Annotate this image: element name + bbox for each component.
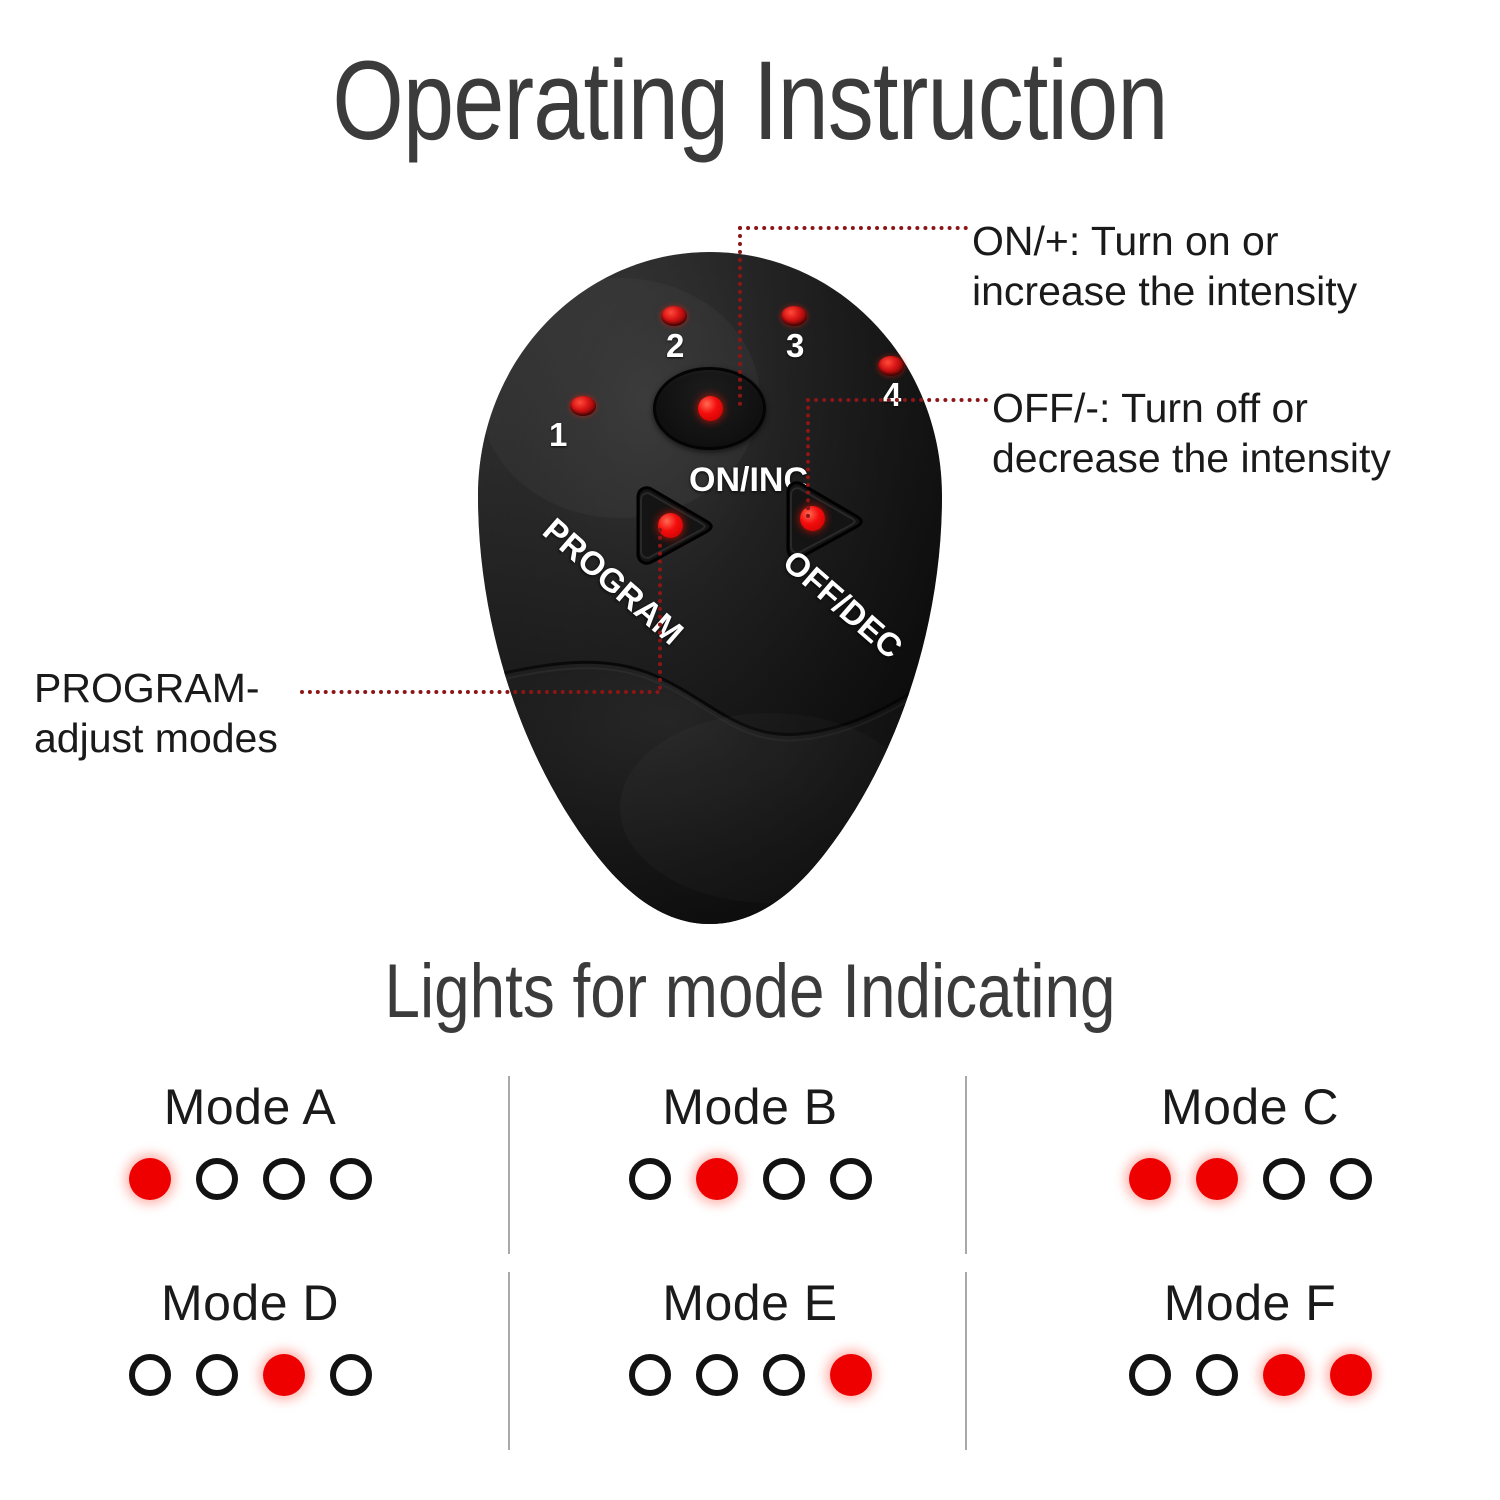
- mode-d-led-1: [129, 1354, 171, 1396]
- mode-divider-1: [508, 1076, 510, 1254]
- callout-program-label: PROGRAM- adjust modes: [34, 663, 454, 763]
- mode-b-led-2: [696, 1158, 738, 1200]
- mode-d-led-4: [330, 1354, 372, 1396]
- mode-c-led-4: [1330, 1158, 1372, 1200]
- off-dec-button-led: [800, 506, 825, 531]
- mode-f-label: Mode F: [1164, 1278, 1337, 1328]
- device-led-3: [781, 306, 807, 326]
- device-led-1-number: 1: [549, 416, 567, 454]
- mode-d-led-3: [263, 1354, 305, 1396]
- page-title: Operating Instruction: [135, 42, 1365, 160]
- mode-e-label: Mode E: [662, 1278, 837, 1328]
- device-illustration: 1 2 3 4 ON/INC PROGRAM OFF/DEC: [470, 248, 950, 928]
- device-led-2: [661, 306, 687, 326]
- mode-c-label: Mode C: [1161, 1082, 1339, 1132]
- callout-off-label: OFF/-: Turn off or decrease the intensit…: [992, 383, 1492, 483]
- mode-indicator-chart: Mode A Mode B Mode C: [0, 1072, 1500, 1472]
- mode-divider-2: [965, 1076, 967, 1254]
- section-title: Lights for mode Indicating: [120, 952, 1380, 1032]
- mode-e-led-3: [763, 1354, 805, 1396]
- mode-divider-3: [508, 1272, 510, 1450]
- mode-row-bottom: Mode D Mode E Mode F: [0, 1268, 1500, 1458]
- mode-b-led-3: [763, 1158, 805, 1200]
- device-led-1: [570, 396, 596, 416]
- mode-b-led-1: [629, 1158, 671, 1200]
- mode-cell-e: Mode E: [500, 1268, 1000, 1458]
- mode-a-led-2: [196, 1158, 238, 1200]
- mode-e-led-4: [830, 1354, 872, 1396]
- mode-cell-c: Mode C: [1000, 1072, 1500, 1262]
- leader-line-off-horizontal: [806, 398, 988, 402]
- mode-cell-a: Mode A: [0, 1072, 500, 1262]
- mode-e-led-2: [696, 1354, 738, 1396]
- mode-a-leds: [129, 1158, 372, 1200]
- on-inc-button-led: [698, 396, 723, 421]
- device-body-shape: [470, 248, 950, 928]
- leader-line-on-horizontal: [738, 226, 968, 230]
- mode-d-label: Mode D: [161, 1278, 339, 1328]
- mode-e-leds: [629, 1354, 872, 1396]
- instruction-page: Operating Instruction: [0, 0, 1500, 1500]
- mode-d-leds: [129, 1354, 372, 1396]
- mode-a-led-3: [263, 1158, 305, 1200]
- mode-f-led-2: [1196, 1354, 1238, 1396]
- mode-a-led-4: [330, 1158, 372, 1200]
- device-led-3-number: 3: [786, 327, 804, 365]
- mode-a-led-1: [129, 1158, 171, 1200]
- device-led-4-number: 4: [883, 376, 901, 414]
- mode-b-label: Mode B: [662, 1082, 837, 1132]
- mode-e-led-1: [629, 1354, 671, 1396]
- device-led-4: [878, 356, 904, 376]
- mode-f-led-3: [1263, 1354, 1305, 1396]
- mode-f-leds: [1129, 1354, 1372, 1396]
- mode-d-led-2: [196, 1354, 238, 1396]
- mode-c-led-2: [1196, 1158, 1238, 1200]
- mode-f-led-4: [1330, 1354, 1372, 1396]
- mode-cell-b: Mode B: [500, 1072, 1000, 1262]
- device-led-2-number: 2: [666, 327, 684, 365]
- mode-f-led-1: [1129, 1354, 1171, 1396]
- leader-line-program-vertical: [658, 528, 662, 690]
- mode-b-led-4: [830, 1158, 872, 1200]
- mode-cell-d: Mode D: [0, 1268, 500, 1458]
- mode-divider-4: [965, 1272, 967, 1450]
- mode-c-led-3: [1263, 1158, 1305, 1200]
- mode-c-led-1: [1129, 1158, 1171, 1200]
- mode-row-top: Mode A Mode B Mode C: [0, 1072, 1500, 1262]
- mode-b-leds: [629, 1158, 872, 1200]
- callout-on-label: ON/+: Turn on or increase the intensity: [972, 216, 1492, 316]
- leader-line-off-vertical: [806, 398, 810, 518]
- leader-line-on-vertical: [738, 226, 742, 406]
- mode-c-leds: [1129, 1158, 1372, 1200]
- mode-cell-f: Mode F: [1000, 1268, 1500, 1458]
- mode-a-label: Mode A: [164, 1082, 337, 1132]
